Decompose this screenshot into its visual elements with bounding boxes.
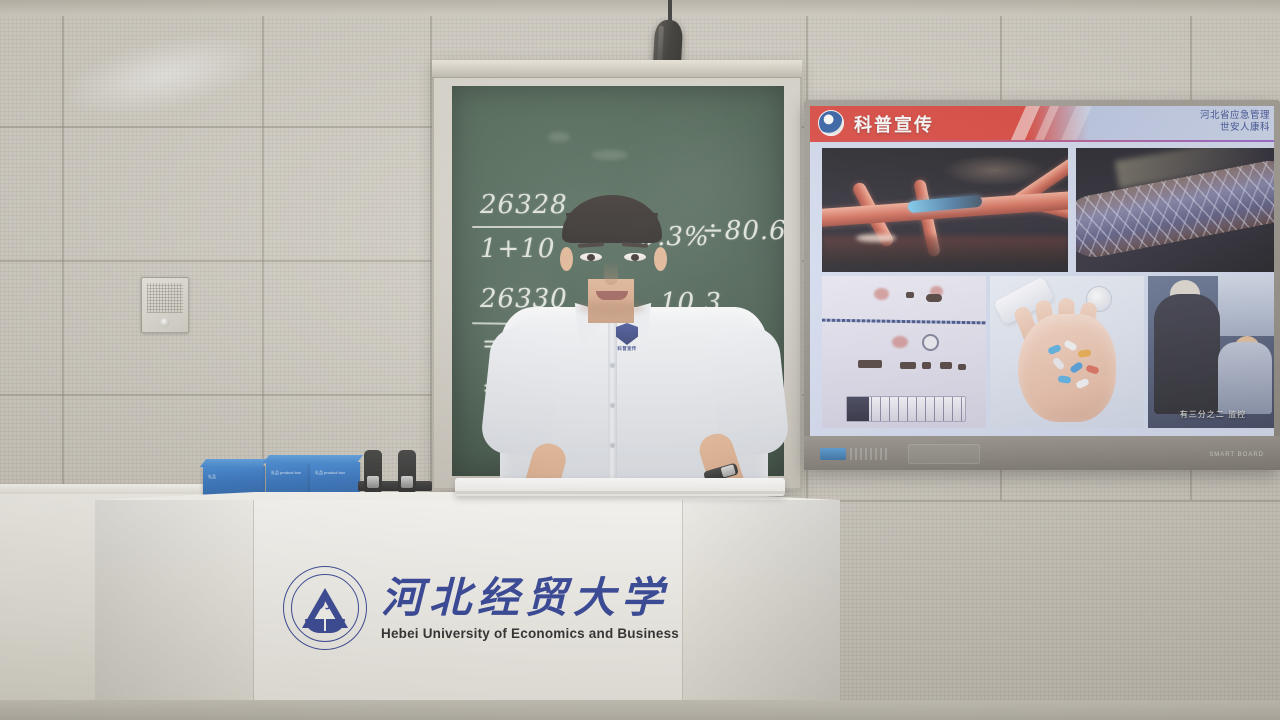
speaker-volume-knob[interactable]: [161, 318, 170, 327]
eye-right: [624, 253, 646, 261]
box-top-face: [200, 459, 268, 467]
shirt-button: [610, 363, 615, 368]
university-names: 河北经贸大学 Hebei University of Economics and…: [381, 574, 679, 641]
mouth: [596, 291, 628, 300]
chalk-smudge: [592, 150, 628, 160]
shirt-button: [610, 443, 615, 448]
specimen-item: [906, 292, 914, 298]
slide-title: 科普宣传: [854, 111, 934, 137]
handheld-microphone-icon[interactable]: [364, 450, 382, 492]
specimen-item: [922, 362, 931, 369]
display-bezel: SMART BOARD: [804, 436, 1280, 470]
specimen-item: [858, 360, 882, 368]
ear-right: [654, 247, 667, 271]
chalkboard-rail: [432, 60, 802, 78]
display-screen[interactable]: 科普宣传 河北省应急管理 世安人康科: [810, 106, 1274, 436]
organization-emblem-icon: [818, 110, 844, 136]
presenter: 科普宣传: [470, 195, 800, 495]
university-seal-icon: 力: [283, 566, 367, 650]
box-label: 礼品: [208, 474, 260, 479]
slide-divider: [810, 140, 1274, 142]
org-line-2: 世安人康科: [1200, 122, 1270, 134]
panel-specimens: [822, 276, 986, 428]
org-line-1: 河北省应急管理: [1200, 110, 1270, 122]
syringe: [846, 396, 966, 422]
nose: [604, 261, 618, 285]
shirt-badge-text: 科普宣传: [617, 346, 636, 352]
video-person-seated: [1218, 342, 1272, 414]
specimen-item: [926, 294, 942, 302]
ear-left: [560, 247, 573, 271]
open-palm: [1018, 314, 1116, 422]
shirt-button: [610, 403, 615, 408]
chin-shadow: [578, 301, 646, 315]
podium-side-right: [683, 500, 840, 720]
smart-display[interactable]: 科普宣传 河北省应急管理 世安人康科: [804, 100, 1280, 470]
presenter-hair: [562, 195, 662, 243]
lecture-scene: 26328 1+10 10.3% ÷80.6% 26330 10.3 = = 科…: [0, 0, 1280, 720]
display-port-row[interactable]: [850, 448, 888, 460]
chalk-smudge: [548, 132, 570, 142]
specimen-item: [940, 362, 952, 369]
slide-organization: 河北省应急管理 世安人康科: [1200, 110, 1270, 134]
wall-speaker-panel: [141, 277, 189, 333]
specimen-item: [900, 362, 916, 369]
podium-desktop: [455, 478, 785, 496]
display-vendor-logo: SMART BOARD: [1209, 452, 1264, 458]
podium-side-left: [95, 500, 253, 720]
box-top-face: [307, 455, 363, 463]
eye-left: [580, 253, 602, 261]
presenter-sleeve-left: [480, 324, 563, 459]
video-background: [1218, 276, 1274, 336]
specimen-item: [958, 364, 966, 370]
vessel-shadow: [822, 236, 1068, 266]
seal-glyph: 力: [318, 593, 331, 612]
display-power-button[interactable]: [820, 448, 846, 460]
handheld-microphone-icon[interactable]: [398, 450, 416, 492]
panel-video: 有三分之二 监控: [1148, 276, 1274, 428]
floor: [0, 700, 1280, 720]
reference-coin: [922, 334, 939, 351]
panel-artery: [822, 148, 1068, 272]
university-logo: 力 河北经贸大学 Hebei University of Economics a…: [283, 555, 663, 660]
seal-book: [305, 619, 345, 633]
specimen-blot: [874, 288, 889, 300]
speaker-mesh: [147, 283, 183, 313]
university-name-en: Hebei University of Economics and Busine…: [381, 626, 679, 641]
video-person-foreground: [1154, 294, 1220, 414]
vessel-highlight: [856, 234, 896, 242]
video-subtitle: 有三分之二 监控: [1148, 409, 1274, 420]
panel-pills: [990, 276, 1144, 428]
box-label: 礼品 product box: [315, 470, 355, 475]
panel-stent: [1076, 148, 1274, 272]
university-name-cn: 河北经贸大学: [381, 574, 679, 622]
slide: 科普宣传 河北省应急管理 世安人康科: [810, 106, 1274, 436]
shirt-badge: 科普宣传: [612, 323, 642, 357]
ceiling-strip: [0, 0, 1280, 16]
shield-icon: [616, 323, 638, 345]
header-slash: [1056, 106, 1097, 140]
specimen-blot: [892, 336, 908, 348]
display-control-panel[interactable]: [908, 444, 980, 464]
slide-panel-grid: 有三分之二 监控: [818, 148, 1266, 430]
